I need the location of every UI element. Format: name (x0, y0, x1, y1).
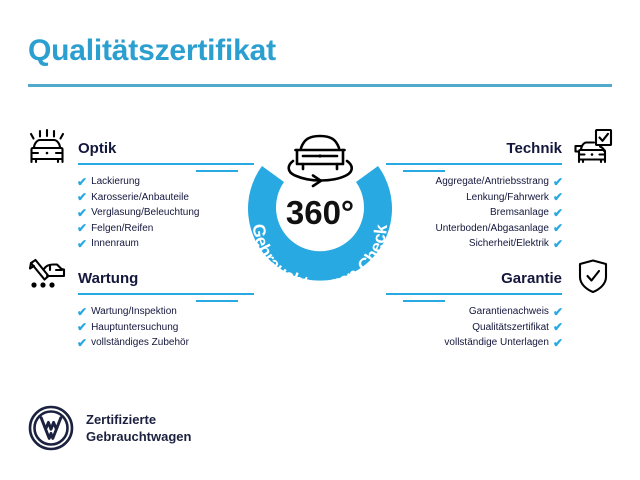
list-item: ✔vollständiges Zubehör (77, 335, 254, 351)
check-icon: ✔ (77, 222, 87, 234)
footer-branding: Zertifizierte Gebrauchtwagen (28, 405, 191, 451)
car-shine-icon (24, 126, 70, 166)
list-item-label: Aggregate/Antriebsstrang (436, 174, 549, 190)
section-technik: Technik ✔Aggregate/Antriebsstrang ✔Lenku… (386, 126, 616, 252)
checklist-wartung: ✔Wartung/Inspektion ✔Hauptuntersuchung ✔… (24, 304, 254, 351)
list-item-label: vollständige Unterlagen (444, 335, 549, 351)
section-header-garantie: Garantie (386, 256, 616, 296)
list-item-label: Felgen/Reifen (91, 221, 153, 237)
badge-center-label: 360° (286, 194, 354, 231)
check-icon: ✔ (553, 306, 563, 318)
footer-line-1: Zertifizierte (86, 411, 191, 428)
list-item-label: Unterboden/Abgasanlage (436, 221, 549, 237)
page-title: Qualitätszertifikat (28, 34, 276, 68)
check-icon: ✔ (553, 238, 563, 250)
check-icon: ✔ (553, 191, 563, 203)
list-item-label: Lackierung (91, 174, 140, 190)
list-item-label: Bremsanlage (490, 205, 549, 221)
list-item-label: Karosserie/Anbauteile (91, 190, 189, 206)
check-icon: ✔ (77, 207, 87, 219)
list-item-label: Wartung/Inspektion (91, 304, 177, 320)
section-optik: Optik ✔Lackierung ✔Karosserie/Anbauteile… (24, 126, 254, 252)
section-header-wartung: Wartung (24, 256, 254, 296)
check-icon: ✔ (553, 321, 563, 333)
list-item: ✔Qualitätszertifikat (386, 320, 563, 336)
list-item-label: Qualitätszertifikat (472, 320, 549, 336)
check-icon: ✔ (77, 337, 87, 349)
title-divider (28, 84, 612, 87)
section-header-optik: Optik (24, 126, 254, 166)
check-icon: ✔ (77, 306, 87, 318)
list-item-label: vollständiges Zubehör (91, 335, 189, 351)
checklist-garantie: ✔Garantienachweis ✔Qualitätszertifikat ✔… (386, 304, 616, 351)
list-item-label: Garantienachweis (469, 304, 549, 320)
car-rotate-icon (289, 136, 352, 186)
check-icon: ✔ (77, 238, 87, 250)
section-header-technik: Technik (386, 126, 616, 166)
list-item: ✔vollständige Unterlagen (386, 335, 563, 351)
section-wartung: Wartung ✔Wartung/Inspektion ✔Hauptunters… (24, 256, 254, 351)
list-item: ✔Hauptuntersuchung (77, 320, 254, 336)
check-icon: ✔ (77, 321, 87, 333)
list-item-label: Hauptuntersuchung (91, 320, 178, 336)
section-garantie: Garantie ✔Garantienachweis ✔Qualitätszer… (386, 256, 616, 351)
list-item-label: Innenraum (91, 236, 139, 252)
footer-line-2: Gebrauchtwagen (86, 428, 191, 445)
checklist-technik: ✔Aggregate/Antriebsstrang ✔Lenkung/Fahrw… (386, 174, 616, 252)
badge-360-gebrauchtwagen-check: Gebrauchtwagen-Check 360° (225, 120, 415, 310)
check-icon: ✔ (553, 207, 563, 219)
shield-check-icon (570, 256, 616, 296)
footer-text: Zertifizierte Gebrauchtwagen (86, 411, 191, 445)
volkswagen-logo (28, 405, 74, 451)
check-icon: ✔ (77, 191, 87, 203)
list-item-label: Verglasung/Beleuchtung (91, 205, 199, 221)
check-icon: ✔ (553, 337, 563, 349)
list-item-label: Lenkung/Fahrwerk (466, 190, 549, 206)
checklist-optik: ✔Lackierung ✔Karosserie/Anbauteile ✔Verg… (24, 174, 254, 252)
check-icon: ✔ (553, 222, 563, 234)
list-item-label: Sicherheit/Elektrik (469, 236, 549, 252)
car-checkbox-icon (570, 126, 616, 166)
pencil-car-service-icon (24, 256, 70, 296)
check-icon: ✔ (553, 176, 563, 188)
check-icon: ✔ (77, 176, 87, 188)
